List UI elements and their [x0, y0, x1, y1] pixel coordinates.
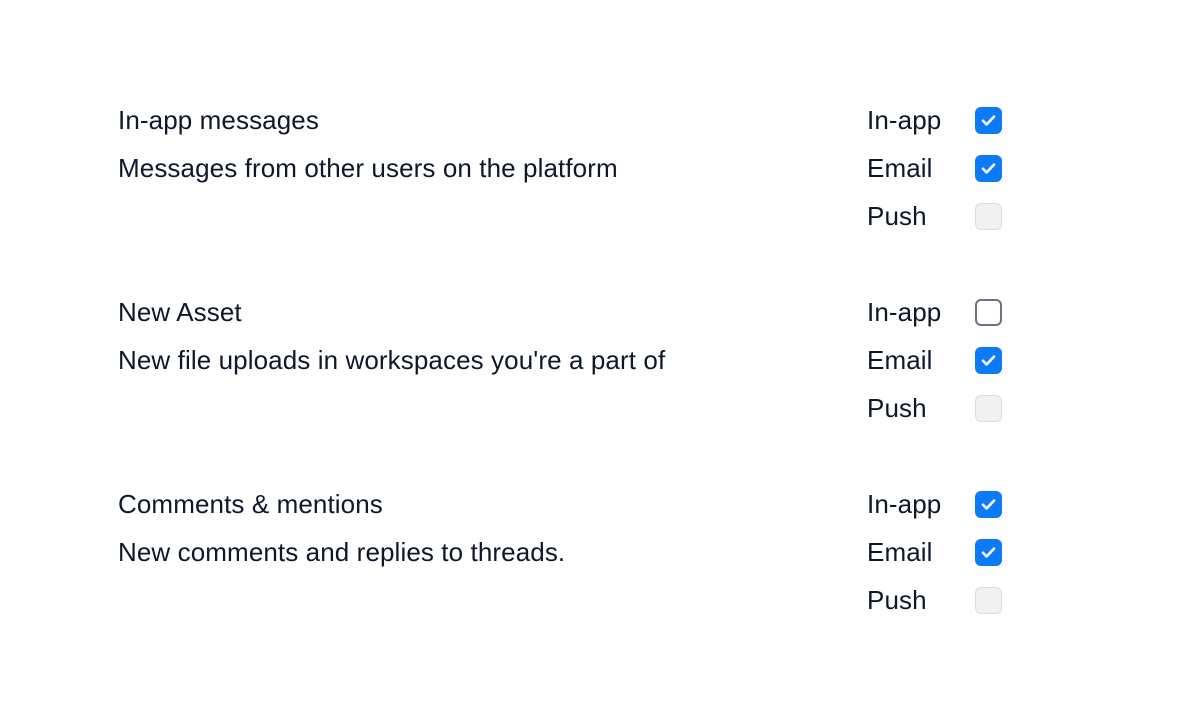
notification-row: New comments and replies to threads. Ema… — [118, 528, 1002, 576]
channel-label: In-app — [867, 96, 975, 144]
notification-row: Comments & mentions In-app — [118, 480, 1002, 528]
checkbox-push — [975, 203, 1002, 230]
channel-label: In-app — [867, 288, 975, 336]
notification-row: In-app messages In-app — [118, 96, 1002, 144]
notification-description: New file uploads in workspaces you're a … — [118, 336, 665, 384]
checkbox-in-app[interactable] — [975, 107, 1002, 134]
notification-preferences-list: In-app messages In-app Messages from oth… — [0, 0, 1184, 714]
channel-toggle-push: Push — [867, 576, 1002, 624]
channel-label: Push — [867, 384, 975, 432]
notification-row: New Asset In-app — [118, 288, 1002, 336]
channel-label: Email — [867, 336, 975, 384]
notification-group: In-app messages In-app Messages from oth… — [118, 96, 1002, 240]
channel-toggle-email[interactable]: Email — [867, 528, 1002, 576]
checkbox-email[interactable] — [975, 347, 1002, 374]
notification-row: Push — [118, 384, 1002, 432]
checkmark-icon — [980, 160, 997, 177]
checkmark-icon — [980, 352, 997, 369]
notification-row: New file uploads in workspaces you're a … — [118, 336, 1002, 384]
channel-toggle-in-app[interactable]: In-app — [867, 96, 1002, 144]
notification-row: Messages from other users on the platfor… — [118, 144, 1002, 192]
checkmark-icon — [980, 496, 997, 513]
channel-label: Push — [867, 192, 975, 240]
checkbox-push — [975, 587, 1002, 614]
notification-description: Messages from other users on the platfor… — [118, 144, 618, 192]
channel-toggle-email[interactable]: Email — [867, 336, 1002, 384]
channel-toggle-push: Push — [867, 192, 1002, 240]
channel-toggle-push: Push — [867, 384, 1002, 432]
checkmark-icon — [980, 112, 997, 129]
checkbox-in-app[interactable] — [975, 491, 1002, 518]
channel-label: Email — [867, 528, 975, 576]
channel-label: In-app — [867, 480, 975, 528]
channel-label: Push — [867, 576, 975, 624]
checkmark-icon — [980, 544, 997, 561]
notification-row: Push — [118, 576, 1002, 624]
channel-toggle-email[interactable]: Email — [867, 144, 1002, 192]
checkbox-email[interactable] — [975, 155, 1002, 182]
notification-title: Comments & mentions — [118, 480, 383, 528]
channel-toggle-in-app[interactable]: In-app — [867, 288, 1002, 336]
channel-label: Email — [867, 144, 975, 192]
notification-description: New comments and replies to threads. — [118, 528, 565, 576]
notification-title: New Asset — [118, 288, 242, 336]
notification-title: In-app messages — [118, 96, 319, 144]
checkbox-push — [975, 395, 1002, 422]
channel-toggle-in-app[interactable]: In-app — [867, 480, 1002, 528]
checkbox-in-app[interactable] — [975, 299, 1002, 326]
notification-group: New Asset In-app New file uploads in wor… — [118, 288, 1002, 432]
notification-row: Push — [118, 192, 1002, 240]
notification-group: Comments & mentions In-app New comments … — [118, 480, 1002, 624]
checkbox-email[interactable] — [975, 539, 1002, 566]
